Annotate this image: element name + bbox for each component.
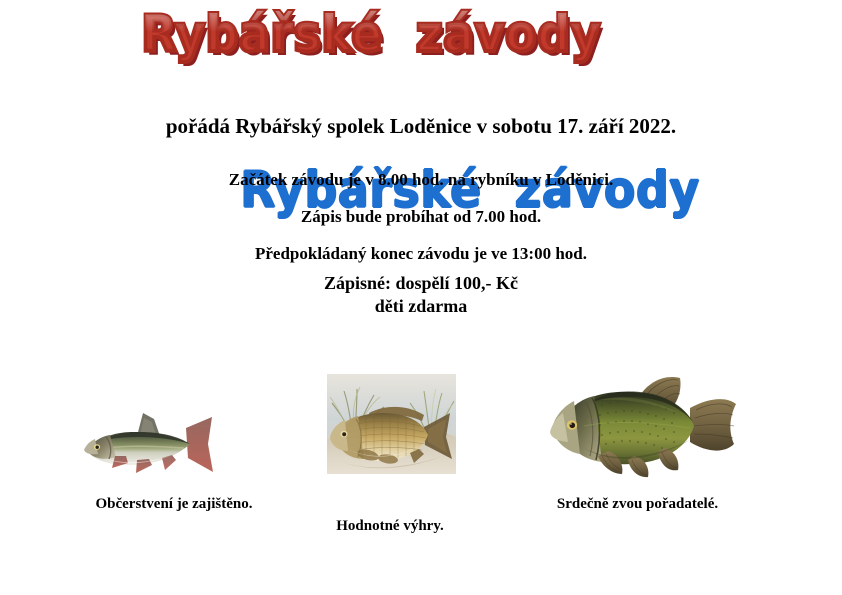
poster-page: Rybářské závody Rybářské závody Rybářské… [0,0,842,595]
detail-start-time: Začátek závodu je v 8.00 hod. na rybníku… [0,170,842,190]
fish-barbel-photo [82,410,214,482]
caption-organizers: Srdečně zvou pořadatelé. [505,495,770,513]
event-details: Začátek závodu je v 8.00 hod. na rybníku… [0,170,842,281]
fee-children: děti zdarma [0,295,842,318]
title-outline-layer: Rybářské závody [142,8,602,60]
poster-title: Rybářské závody Rybářské závody Rybářské… [0,8,842,68]
fish-carp-illustration [324,369,459,479]
detail-end-time: Předpokládaný konec závodu je ve 13:00 h… [0,244,842,264]
caption-refreshments: Občerstvení je zajištěno. [40,495,308,513]
entry-fee-block: Zápisné: dospělí 100,- Kč děti zdarma [0,272,842,318]
organizer-line: pořádá Rybářský spolek Loděnice v sobotu… [0,113,842,139]
fish-tench-illustration [540,370,738,480]
fee-adults: Zápisné: dospělí 100,- Kč [0,272,842,295]
caption-prizes: Hodnotné výhry. [290,517,490,535]
detail-registration-time: Zápis bude probíhat od 7.00 hod. [0,207,842,227]
